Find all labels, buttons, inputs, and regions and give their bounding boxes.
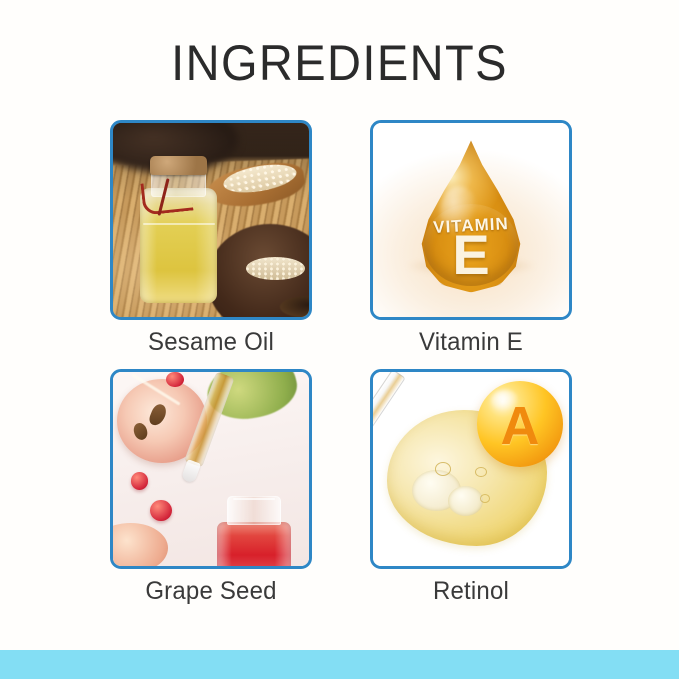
grape-seed-illustration bbox=[113, 372, 309, 566]
ingredient-card-grape-seed[interactable]: Grape Seed bbox=[110, 369, 312, 608]
ingredient-label-grape-seed: Grape Seed bbox=[114, 575, 308, 608]
ingredients-page: INGREDIENTS bbox=[0, 0, 679, 679]
grape-seed-image[interactable] bbox=[110, 369, 312, 569]
red-bottle-body bbox=[217, 522, 291, 569]
golden-droplet: VITAMIN E bbox=[415, 140, 527, 292]
ingredient-card-retinol[interactable]: A Retinol bbox=[370, 369, 572, 608]
sphere-highlight bbox=[491, 390, 520, 412]
page-title: INGREDIENTS bbox=[20, 38, 658, 88]
ingredients-grid: Sesame Oil VITAMIN E Vitamin E bbox=[110, 120, 572, 607]
droplet-letter-e: E bbox=[415, 227, 527, 283]
red-oil-bottle bbox=[217, 496, 291, 569]
grape-seed-pit-2 bbox=[132, 421, 149, 441]
sesame-oil-illustration bbox=[113, 123, 309, 317]
red-berry-2 bbox=[150, 500, 172, 521]
vitamin-e-illustration: VITAMIN E bbox=[373, 123, 569, 317]
sesame-oil-image[interactable] bbox=[110, 120, 312, 320]
bottom-accent-bar bbox=[0, 650, 679, 679]
ingredient-card-sesame-oil[interactable]: Sesame Oil bbox=[110, 120, 312, 359]
oil-bottle bbox=[140, 156, 216, 303]
ingredient-label-retinol: Retinol bbox=[374, 575, 568, 608]
mortar-sesame-seeds bbox=[246, 257, 305, 280]
oil-surface-line bbox=[143, 223, 215, 225]
cork-stopper bbox=[150, 156, 207, 175]
ingredient-label-sesame-oil: Sesame Oil bbox=[114, 326, 308, 359]
oil-bubble-small-3 bbox=[480, 494, 490, 503]
red-berry-top bbox=[166, 372, 184, 388]
retinol-image[interactable]: A bbox=[370, 369, 572, 569]
mortar-rim bbox=[280, 296, 312, 319]
vitamin-e-image[interactable]: VITAMIN E bbox=[370, 120, 572, 320]
retinol-illustration: A bbox=[373, 372, 569, 566]
red-berry-1 bbox=[131, 472, 149, 489]
red-bottle-ring bbox=[233, 498, 274, 500]
ingredient-card-vitamin-e[interactable]: VITAMIN E Vitamin E bbox=[370, 120, 572, 359]
oil-bubble-small-2 bbox=[475, 467, 487, 477]
red-bottle-neck bbox=[227, 496, 281, 525]
ingredient-label-vitamin-e: Vitamin E bbox=[374, 326, 568, 359]
vitamin-a-sphere: A bbox=[477, 381, 563, 466]
oil-bubble-medium bbox=[448, 486, 483, 516]
grape-seed-pit bbox=[148, 402, 169, 427]
sphere-letter-a: A bbox=[477, 381, 563, 466]
